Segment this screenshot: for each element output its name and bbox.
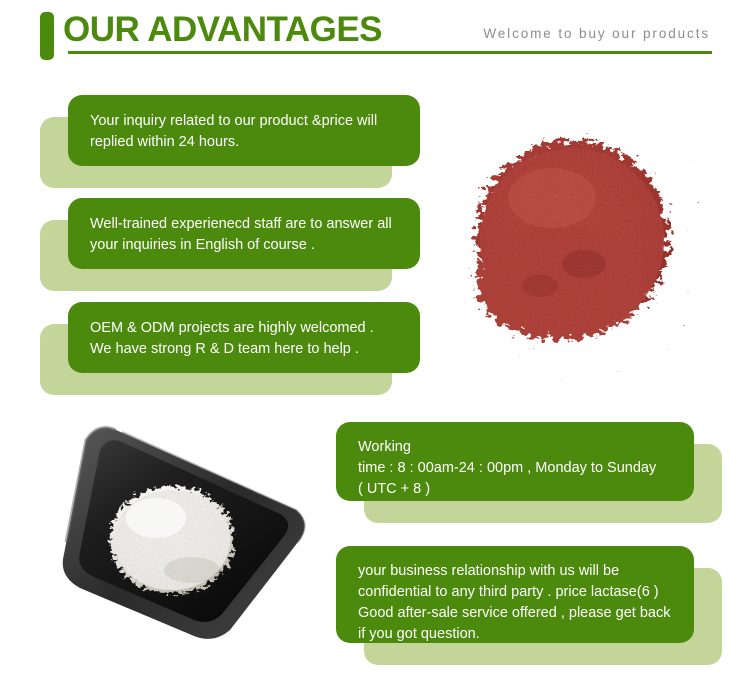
advantage-text: Well-trained experienecd staff are to an… (68, 198, 420, 256)
advantage-text: OEM & ODM projects are highly welcomed .… (68, 302, 420, 360)
page-header: OUR ADVANTAGES Welcome to buy our produc… (0, 0, 750, 70)
card-body: OEM & ODM projects are highly welcomed .… (68, 302, 420, 373)
title-accent-bar (40, 12, 54, 60)
white-powder-illustration (52, 412, 322, 657)
header-divider (68, 51, 712, 54)
card-body: Well-trained experienecd staff are to an… (68, 198, 420, 269)
advantage-text: Working time : 8 : 00am-24 : 00pm , Mond… (336, 422, 694, 500)
white-powder-black-dish-photo (52, 412, 322, 657)
card-body: your business relationship with us will … (336, 546, 694, 643)
card-body: Working time : 8 : 00am-24 : 00pm , Mond… (336, 422, 694, 501)
advantage-text: Your inquiry related to our product &pri… (68, 95, 420, 153)
advantages-banner: OUR ADVANTAGES Welcome to buy our produc… (0, 0, 750, 697)
card-body: Your inquiry related to our product &pri… (68, 95, 420, 166)
page-title: OUR ADVANTAGES (63, 8, 382, 52)
red-powder-pile-photo (432, 86, 732, 401)
header-tagline: Welcome to buy our products (483, 26, 710, 41)
advantage-text: your business relationship with us will … (336, 546, 694, 645)
red-powder-illustration (432, 86, 732, 401)
